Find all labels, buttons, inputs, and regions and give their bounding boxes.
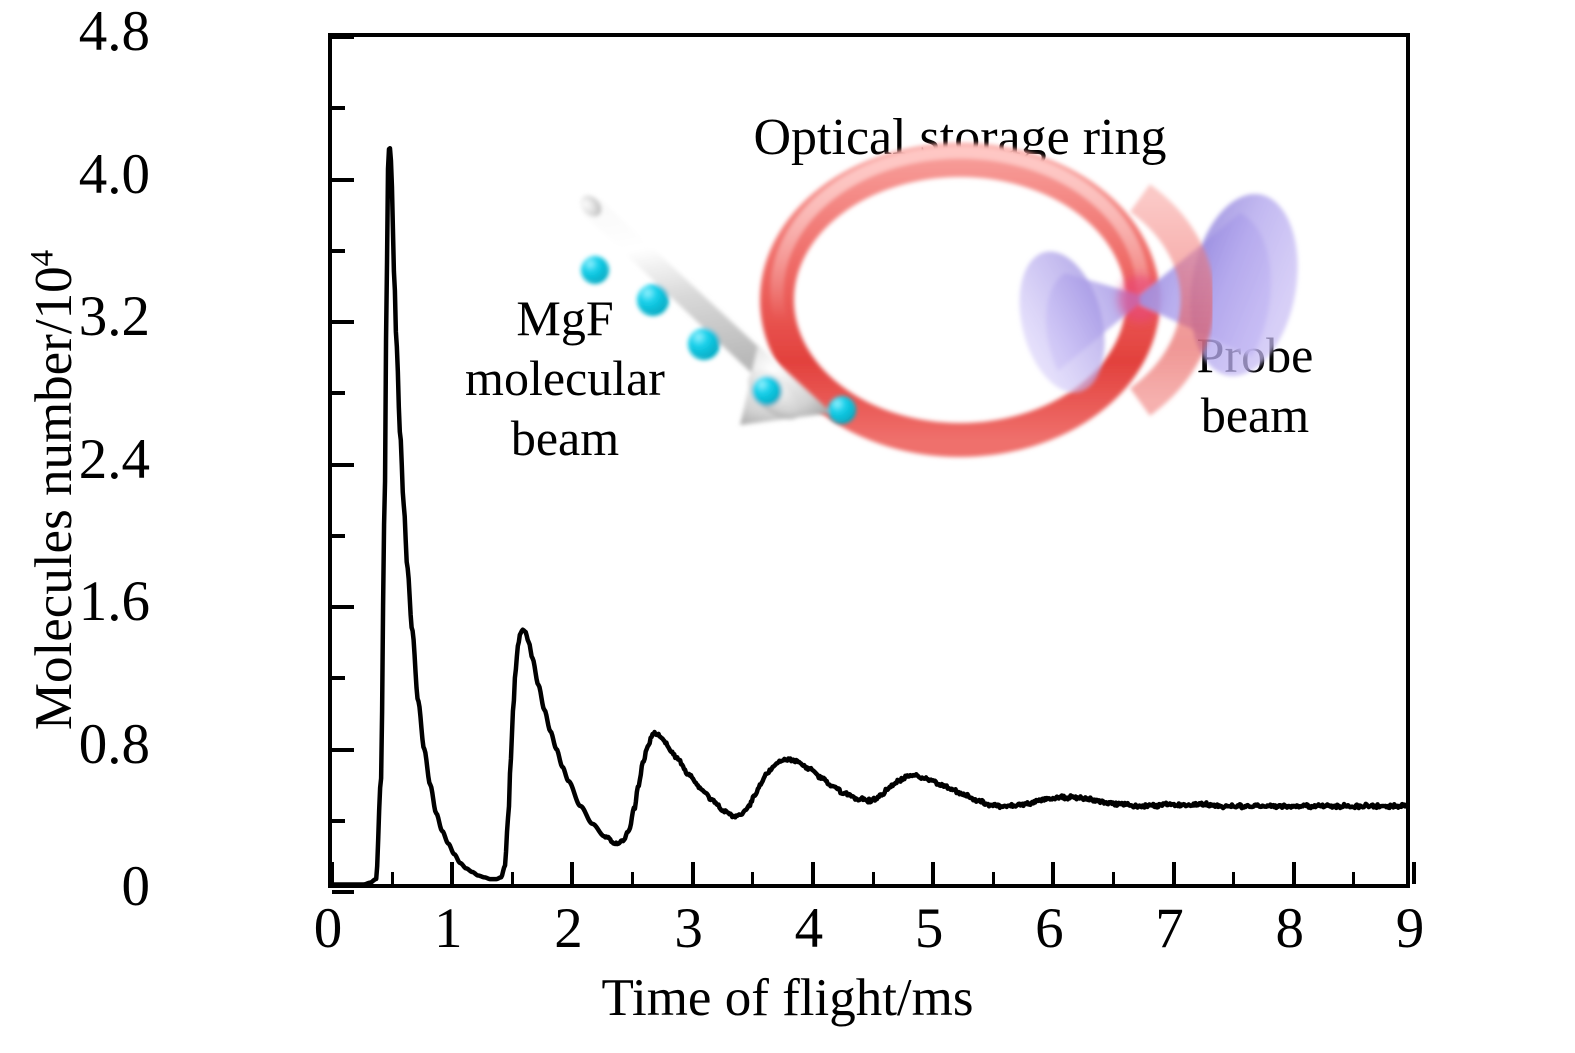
mgf-beam-label-line3: beam (440, 408, 690, 468)
x-tick-label: 9 (1396, 900, 1425, 957)
figure-root: Molecules number/104 Time of flight/ms 0… (0, 0, 1575, 1053)
y-tick-label: 2.4 (79, 431, 150, 488)
y-tick-major (332, 890, 354, 894)
x-axis-title: Time of flight/ms (0, 968, 1575, 1028)
x-tick-label: 0 (314, 900, 343, 957)
y-tick-label: 0 (122, 858, 151, 915)
x-tick-label: 1 (434, 900, 463, 957)
y-axis-title-exponent: 4 (24, 250, 60, 267)
probe-beam-label-line2: beam (1140, 385, 1370, 445)
y-tick-label: 4.8 (79, 3, 150, 60)
y-axis-title: Molecules number/104 (24, 230, 84, 750)
mgf-beam-label-line1: MgF (440, 288, 690, 348)
probe-beam-label-line1: Probe (1140, 325, 1370, 385)
y-tick-label: 0.8 (79, 716, 150, 773)
mgf-beam-label: MgF molecular beam (440, 288, 690, 468)
x-tick-label: 2 (554, 900, 583, 957)
molecule-number-curve (328, 148, 1410, 884)
y-tick-label: 3.2 (79, 288, 150, 345)
x-tick-major (1412, 862, 1416, 884)
probe-beam-label: Probe beam (1140, 325, 1370, 445)
inset-title: Optical storage ring (690, 108, 1230, 167)
y-tick-label: 4.0 (79, 146, 150, 203)
x-tick-label: 4 (795, 900, 824, 957)
y-axis-title-text: Molecules number/10 (25, 266, 83, 730)
x-tick-label: 7 (1155, 900, 1184, 957)
x-tick-label: 5 (915, 900, 944, 957)
x-tick-label: 6 (1035, 900, 1064, 957)
x-tick-label: 3 (674, 900, 703, 957)
mgf-beam-label-line2: molecular (440, 348, 690, 408)
y-tick-label: 1.6 (79, 573, 150, 630)
x-tick-label: 8 (1276, 900, 1305, 957)
